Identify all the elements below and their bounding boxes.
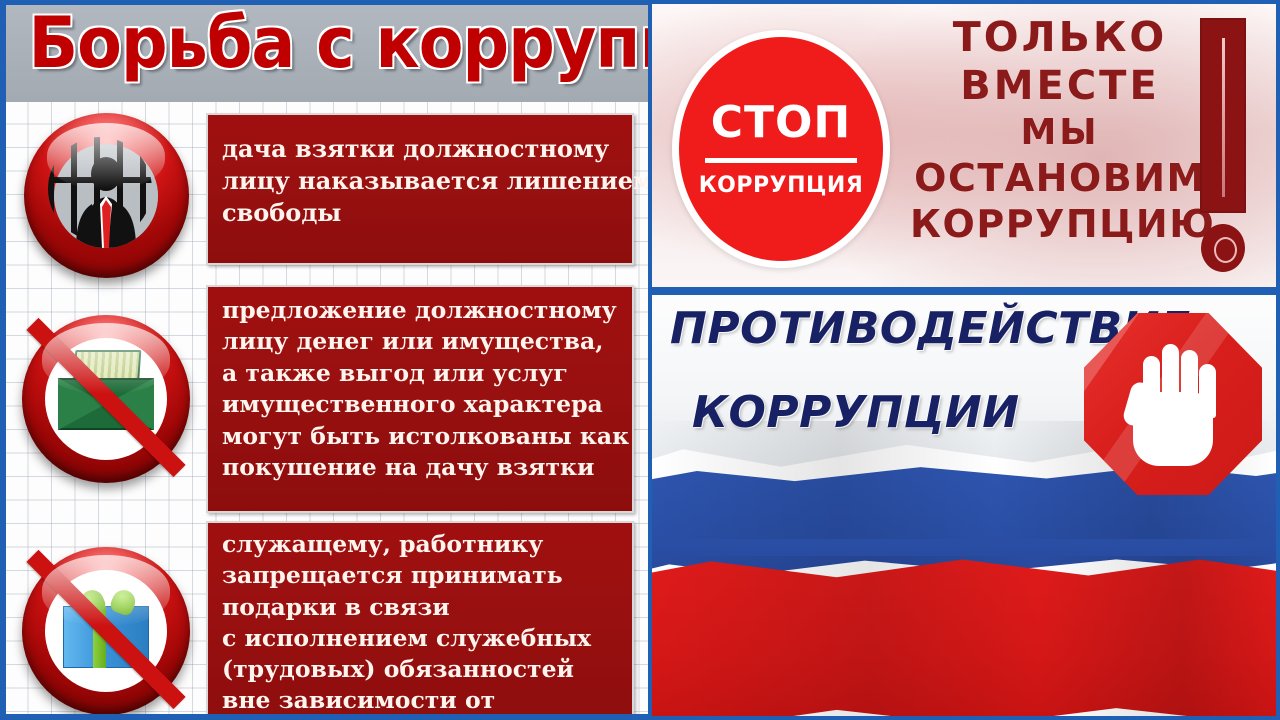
right-bottom-panel: ПРОТИВОДЕЙСТВИЕ КОРРУПЦИИ [648, 291, 1280, 720]
slogan-line: ТОЛЬКО [910, 16, 1210, 59]
info-row: дача взятки должностному лицу наказывает… [6, 113, 634, 278]
text-line: вне зависимости от [222, 685, 618, 716]
exclamation-bar [1200, 18, 1246, 213]
text-line: а также выгод или услуг [222, 358, 618, 389]
info-row: служащему, работнику запрещается принима… [6, 521, 634, 720]
text-line: свободы [222, 197, 618, 229]
heading-line: ПРОТИВОДЕЙСТВИЕ [670, 305, 1110, 353]
text-line: лицу денег или имущества, [222, 326, 618, 357]
text-line: предложение должностному [222, 295, 618, 326]
slogan-line: МЫ [910, 114, 1210, 152]
right-top-panel: СТОП КОРРУПЦИЯ ТОЛЬКО ВМЕСТЕ МЫ ОСТАНОВИ… [648, 0, 1280, 291]
divider [705, 158, 857, 163]
text-line: имущественного характера [222, 389, 618, 420]
info-text-block: предложение должностному лицу денег или … [206, 285, 634, 513]
text-line: подарки в связи [222, 592, 618, 623]
hand-palm-icon [1127, 338, 1219, 466]
text-line: служащему, работнику [222, 529, 618, 560]
text-line: лицу наказывается лишением [222, 165, 618, 197]
stop-word: СТОП [711, 101, 852, 145]
heading-counteraction: ПРОТИВОДЕЙСТВИЕ КОРРУПЦИИ [670, 305, 1110, 436]
text-line: дача взятки должностному [222, 133, 618, 165]
slogan-line: ВМЕСТЕ [910, 65, 1210, 107]
text-line: покушение на дачу взятки [222, 452, 618, 483]
icon-cell [6, 285, 206, 483]
left-panel: Борьба с коррупцией [0, 0, 648, 720]
stop-subject: КОРРУПЦИЯ [699, 175, 864, 197]
info-row: предложение должностному лицу денег или … [6, 285, 634, 513]
text-line: с исполнением служебных [222, 623, 618, 654]
text-line: запрещается принимать [222, 560, 618, 591]
exclamation-mark-icon [1192, 18, 1254, 274]
info-text-block: служащему, работнику запрещается принима… [206, 521, 634, 720]
info-text-block: дача взятки должностному лицу наказывает… [206, 113, 634, 265]
slogan-line: КОРРУПЦИЮ [910, 204, 1210, 244]
stop-circle-icon: СТОП КОРРУПЦИЯ [672, 30, 890, 268]
stop-hand-octagon-icon [1084, 313, 1262, 495]
no-money-envelope-icon [22, 315, 190, 483]
text-line: могут быть истолкованы как [222, 421, 618, 452]
icon-cell [6, 521, 206, 715]
flag-stripe-red [648, 556, 1280, 720]
page-title: Борьба с коррупцией [28, 5, 625, 89]
prisoner-behind-bars-icon [24, 113, 189, 278]
text-line: (трудовых) обязанностей [222, 654, 618, 685]
heading-line: КОРРУПЦИИ [692, 389, 1110, 437]
header-band: Борьба с коррупцией [6, 5, 648, 102]
slogan-line: ОСТАНОВИМ [910, 158, 1210, 198]
slogan: ТОЛЬКО ВМЕСТЕ МЫ ОСТАНОВИМ КОРРУПЦИЮ [910, 16, 1210, 245]
exclamation-dot [1201, 224, 1245, 272]
prison-bars-icon [48, 137, 152, 241]
no-gift-icon [22, 547, 190, 715]
icon-cell [6, 113, 206, 278]
poster-canvas: Борьба с коррупцией [0, 0, 1280, 720]
